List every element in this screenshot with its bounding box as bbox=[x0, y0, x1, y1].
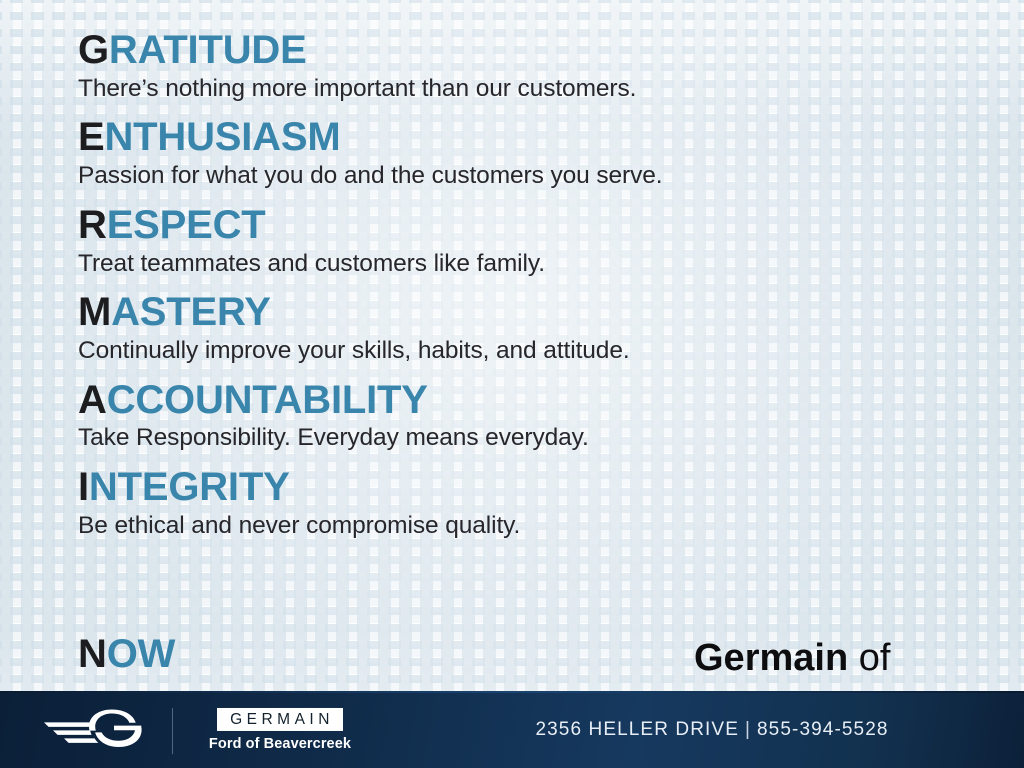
value-rest-letters: ESPECT bbox=[107, 203, 266, 247]
value-block-now: NOW bbox=[78, 632, 175, 677]
value-rest-letters: RATITUDE bbox=[109, 28, 307, 72]
footer-phone[interactable]: 855-394-5528 bbox=[757, 719, 889, 740]
footer-separator: | bbox=[739, 719, 757, 740]
footer-bar: GERMAIN Ford of Beavercreek 2356 HELLER … bbox=[0, 691, 1024, 768]
value-heading-enthusiasm: ENTHUSIASM bbox=[78, 115, 984, 160]
value-description-integrity: Be ethical and never compromise quality. bbox=[78, 511, 984, 542]
value-block-enthusiasm: ENTHUSIASM Passion for what you do and t… bbox=[78, 115, 984, 191]
clipped-headline-light: of bbox=[859, 637, 891, 679]
value-lead-letter: G bbox=[78, 28, 109, 72]
value-lead-letter: M bbox=[78, 290, 111, 334]
footer-contact-info: 2356 HELLER DRIVE|855-394-5528 bbox=[0, 719, 1024, 741]
value-heading-respect: RESPECT bbox=[78, 203, 984, 248]
value-block-respect: RESPECT Treat teammates and customers li… bbox=[78, 203, 984, 279]
value-lead-letter: A bbox=[78, 378, 107, 422]
value-description-respect: Treat teammates and customers like famil… bbox=[78, 249, 984, 280]
value-description-mastery: Continually improve your skills, habits,… bbox=[78, 336, 984, 367]
value-description-enthusiasm: Passion for what you do and the customer… bbox=[78, 161, 984, 192]
footer-top-edge bbox=[0, 691, 1024, 693]
value-lead-letter: R bbox=[78, 203, 107, 247]
value-heading-integrity: INTEGRITY bbox=[78, 465, 984, 510]
value-rest-letters: OW bbox=[107, 632, 175, 676]
value-rest-letters: ASTERY bbox=[111, 290, 271, 334]
clipped-headline-germain-of: Germain of bbox=[694, 637, 890, 681]
value-block-mastery: MASTERY Continually improve your skills,… bbox=[78, 290, 984, 366]
value-rest-letters: NTEGRITY bbox=[89, 465, 290, 509]
value-lead-letter: I bbox=[78, 465, 89, 509]
value-block-integrity: INTEGRITY Be ethical and never compromis… bbox=[78, 465, 984, 541]
value-lead-letter: E bbox=[78, 115, 104, 159]
value-rest-letters: CCOUNTABILITY bbox=[107, 378, 428, 422]
value-description-gratitude: There’s nothing more important than our … bbox=[78, 74, 984, 105]
value-heading-now: NOW bbox=[78, 632, 175, 677]
value-heading-gratitude: GRATITUDE bbox=[78, 28, 984, 73]
value-heading-accountability: ACCOUNTABILITY bbox=[78, 378, 984, 423]
footer-address: 2356 HELLER DRIVE bbox=[535, 719, 739, 740]
value-lead-letter: N bbox=[78, 632, 107, 676]
value-block-gratitude: GRATITUDE There’s nothing more important… bbox=[78, 28, 984, 104]
value-rest-letters: NTHUSIASM bbox=[104, 115, 340, 159]
value-block-accountability: ACCOUNTABILITY Take Responsibility. Ever… bbox=[78, 378, 984, 454]
value-heading-mastery: MASTERY bbox=[78, 290, 984, 335]
core-values-list: GRATITUDE There’s nothing more important… bbox=[78, 28, 984, 553]
clipped-headline-bold: Germain bbox=[694, 637, 848, 679]
value-description-accountability: Take Responsibility. Everyday means ever… bbox=[78, 423, 984, 454]
